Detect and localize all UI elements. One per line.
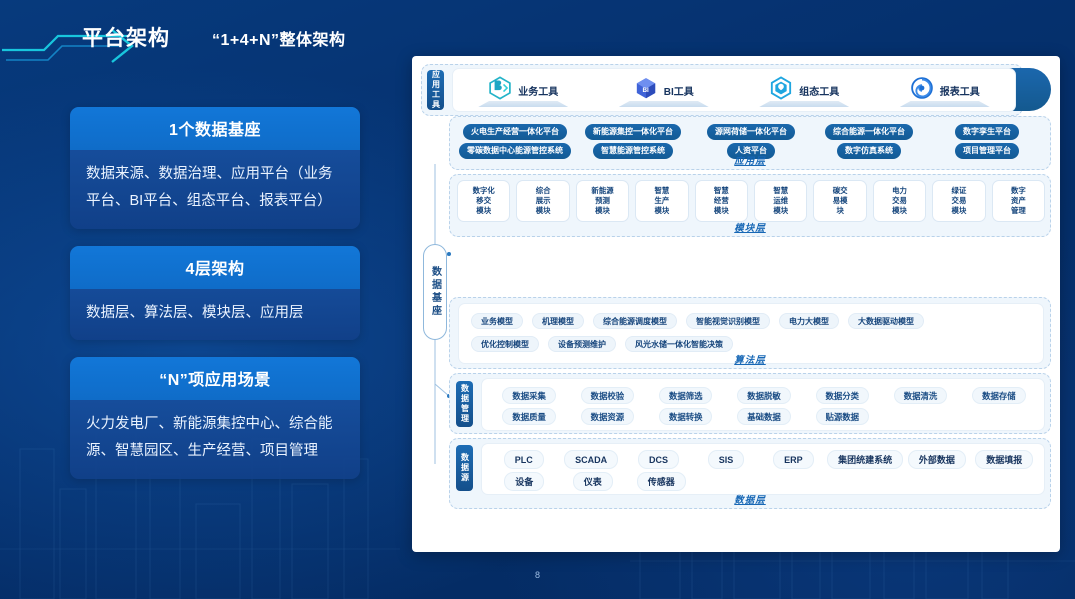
module-label-line: 模块: [892, 206, 907, 216]
module-label-line: 易模: [833, 196, 848, 206]
vertical-tag-data-management: 数据管理: [456, 381, 473, 427]
data-management-cell: [960, 408, 1038, 425]
module-box[interactable]: 智慧经营模块: [695, 180, 748, 222]
layer-tag-module: 模块层: [450, 220, 1050, 234]
tools-card: 业务工具BIBI工具组态工具报表工具: [452, 68, 1016, 112]
application-platform-pill[interactable]: 源网荷储一体化平台: [707, 124, 795, 140]
data-source-cell: DCS: [625, 450, 692, 469]
data-source-cell: SIS: [692, 450, 759, 469]
card-title: 1个数据基座: [70, 107, 360, 150]
data-management-cell: 数据筛选: [647, 387, 725, 404]
data-management-chip[interactable]: 数据清洗: [894, 387, 948, 404]
data-source-chip[interactable]: 外部数据: [908, 450, 966, 469]
summary-cards: 1个数据基座 数据来源、数据治理、应用平台（业务平台、BI平台、组态平台、报表平…: [70, 107, 360, 496]
application-platform-pill[interactable]: 数字孪生平台: [955, 124, 1019, 140]
bi-tool-icon: BI: [634, 76, 658, 105]
data-source-chip[interactable]: ERP: [773, 450, 814, 469]
data-management-card: 数据采集数据校验数据筛选数据脱敏数据分类数据清洗数据存储 数据质量数据资源数据转…: [481, 378, 1045, 431]
data-source-card: PLCSCADADCSSISERP集团统建系统外部数据数据填报 设备仪表传感器: [481, 443, 1045, 495]
page-title: 平台架构: [82, 22, 170, 52]
data-management-cell: 数据脱敏: [725, 387, 803, 404]
data-management-cell: 数据清洗: [881, 387, 959, 404]
module-box[interactable]: 智慧运维模块: [754, 180, 807, 222]
data-management-chip[interactable]: 基础数据: [737, 408, 791, 425]
data-source-cell: ERP: [760, 450, 827, 469]
data-source-cell: 传感器: [627, 472, 696, 491]
config-tool-icon: [769, 76, 793, 105]
data-source-cell: 仪表: [559, 472, 628, 491]
module-label-line: 智慧: [655, 186, 670, 196]
application-layer-group: 火电生产经营一体化平台新能源集控一体化平台源网荷储一体化平台综合能源一体化平台数…: [449, 116, 1051, 170]
data-source-cell: [970, 472, 1039, 491]
data-management-chip[interactable]: 数据校验: [581, 387, 635, 404]
report-tool-icon: [910, 76, 934, 105]
data-source-cell: [764, 472, 833, 491]
data-source-chip[interactable]: 传感器: [637, 472, 686, 491]
data-management-chip[interactable]: 贴源数据: [816, 408, 870, 425]
data-source-chip[interactable]: SIS: [708, 450, 745, 469]
slide-header: 平台架构 “1+4+N”整体架构: [0, 20, 420, 72]
tool-pedestal: [478, 101, 568, 107]
algorithm-layer-group: 业务模型机理模型综合能源调度模型智能视觉识别模型电力大模型大数据驱动模型 优化控…: [449, 297, 1051, 369]
data-management-cell: 数据采集: [490, 387, 568, 404]
data-source-chip[interactable]: PLC: [504, 450, 544, 469]
data-management-cell: 数据校验: [568, 387, 646, 404]
data-management-cell: 数据质量: [490, 408, 568, 425]
data-management-cell: 基础数据: [725, 408, 803, 425]
data-source-chip[interactable]: 设备: [504, 472, 544, 491]
application-platform-pill[interactable]: 火电生产经营一体化平台: [463, 124, 567, 140]
card-title: 4层架构: [70, 246, 360, 289]
tool-item[interactable]: 报表工具: [875, 69, 1016, 111]
data-management-chip[interactable]: 数据筛选: [659, 387, 713, 404]
data-source-cell: 外部数据: [903, 450, 970, 469]
data-management-cell: 贴源数据: [803, 408, 881, 425]
tool-label: 业务工具: [518, 83, 558, 98]
module-box[interactable]: 数字化移交模块: [457, 180, 510, 222]
data-management-cell: 数据转换: [647, 408, 725, 425]
module-label-line: 模块: [536, 206, 551, 216]
module-box[interactable]: 新能源预测模块: [576, 180, 629, 222]
card-body: 数据层、算法层、模块层、应用层: [70, 289, 360, 341]
data-source-cell: SCADA: [557, 450, 624, 469]
module-label-line: 交易: [952, 196, 967, 206]
card-body: 火力发电厂、新能源集控中心、综合能源、智慧园区、生产经营、项目管理: [70, 400, 360, 479]
module-label-line: 智慧: [714, 186, 729, 196]
data-source-chip[interactable]: 仪表: [573, 472, 613, 491]
base-tag-data-foundation: 数据基座: [423, 244, 447, 340]
algorithm-model-chip[interactable]: 大数据驱动模型: [848, 313, 924, 329]
module-label-line: 经营: [714, 196, 729, 206]
app-cell: 源网荷储一体化平台: [692, 124, 810, 140]
data-management-chip[interactable]: 数据存储: [972, 387, 1026, 404]
data-management-chip[interactable]: 数据采集: [502, 387, 556, 404]
application-platform-pill[interactable]: 综合能源一体化平台: [825, 124, 913, 140]
module-box[interactable]: 绿证交易模块: [932, 180, 985, 222]
algorithm-model-chip[interactable]: 电力大模型: [779, 313, 839, 329]
data-management-cell: 数据分类: [803, 387, 881, 404]
module-box[interactable]: 碳交易模块: [813, 180, 866, 222]
module-label-line: 综合: [536, 186, 551, 196]
data-management-chip[interactable]: 数据质量: [502, 408, 556, 425]
data-source-cell: 数据填报: [971, 450, 1038, 469]
data-source-group: 数据源 PLCSCADADCSSISERP集团统建系统外部数据数据填报 设备仪表…: [449, 438, 1051, 509]
data-management-chip[interactable]: 数据转换: [659, 408, 713, 425]
tool-pedestal: [759, 101, 849, 107]
summary-card: 4层架构 数据层、算法层、模块层、应用层: [70, 246, 360, 341]
application-platform-pill[interactable]: 新能源集控一体化平台: [585, 124, 681, 140]
algorithm-model-chip[interactable]: 设备预测维护: [548, 336, 616, 352]
data-source-chip[interactable]: 集团统建系统: [827, 450, 903, 469]
data-source-chip[interactable]: 数据填报: [975, 450, 1033, 469]
architecture-panel: 数据基座 西智数创平台（NWDIPlatform)技术架构 （着力打造一款以数据…: [412, 56, 1060, 552]
layer-tag-data: 数据层: [450, 492, 1050, 506]
summary-card: “N”项应用场景 火力发电厂、新能源集控中心、综合能源、智慧园区、生产经营、项目…: [70, 357, 360, 479]
module-box[interactable]: 电力交易模块: [873, 180, 926, 222]
module-label-line: 模块: [952, 206, 967, 216]
algorithm-model-chip[interactable]: 业务模型: [471, 313, 523, 329]
algorithm-model-chip[interactable]: 智能视觉识别模型: [686, 313, 770, 329]
data-management-chip[interactable]: 数据脱敏: [737, 387, 791, 404]
module-label-line: 模块: [655, 206, 670, 216]
card-body: 数据来源、数据治理、应用平台（业务平台、BI平台、组态平台、报表平台）: [70, 150, 360, 229]
data-source-cell: [696, 472, 765, 491]
module-box[interactable]: 智慧生产模块: [635, 180, 688, 222]
tool-item[interactable]: 组态工具: [734, 69, 875, 111]
svg-text:BI: BI: [642, 87, 649, 94]
data-management-cell: 数据存储: [960, 387, 1038, 404]
data-management-chip[interactable]: 数据分类: [816, 387, 870, 404]
module-label-line: 预测: [595, 196, 610, 206]
business-tool-icon: [488, 76, 512, 105]
data-source-chip[interactable]: SCADA: [564, 450, 618, 469]
module-box[interactable]: 综合展示模块: [516, 180, 569, 222]
module-label-line: 模块: [714, 206, 729, 216]
app-cell: 新能源集控一体化平台: [574, 124, 692, 140]
algorithm-model-chip[interactable]: 优化控制模型: [471, 336, 539, 352]
algorithm-model-chip[interactable]: 机理模型: [532, 313, 584, 329]
module-label-line: 移交: [476, 196, 491, 206]
tool-pedestal: [619, 101, 709, 107]
module-label-line: 交易: [892, 196, 907, 206]
module-label-line: 智慧: [773, 186, 788, 196]
page-subtitle: “1+4+N”整体架构: [212, 26, 346, 50]
data-management-chip[interactable]: 数据资源: [581, 408, 635, 425]
module-label-line: 模块: [595, 206, 610, 216]
app-cell: 综合能源一体化平台: [810, 124, 928, 140]
tool-label: 组态工具: [799, 83, 839, 98]
module-label-line: 模块: [476, 206, 491, 216]
app-cell: 火电生产经营一体化平台: [456, 124, 574, 140]
module-label-line: 块: [836, 206, 843, 216]
layer-tag-algorithm: 算法层: [450, 352, 1050, 366]
layer-tag-application: 应用层: [450, 153, 1050, 167]
module-label-line: 数字化: [473, 186, 495, 196]
page-number: 8: [0, 570, 1075, 580]
data-source-cell: [833, 472, 902, 491]
module-label-line: 模块: [773, 206, 788, 216]
module-label-line: 新能源: [591, 186, 613, 196]
data-management-cell: [881, 408, 959, 425]
tool-label: 报表工具: [940, 83, 980, 98]
module-label-line: 电力: [892, 186, 907, 196]
tool-item[interactable]: 业务工具: [453, 69, 594, 111]
data-management-cell: 数据资源: [568, 408, 646, 425]
tool-label: BI工具: [664, 83, 694, 98]
algorithm-model-chip[interactable]: 风光水储一体化智能决策: [625, 336, 733, 352]
vertical-tag-data-source: 数据源: [456, 445, 473, 491]
app-cell: 数字孪生平台: [928, 124, 1046, 140]
module-label-line: 管理: [1011, 206, 1026, 216]
vertical-tag-application-tools: 应用工具: [427, 70, 444, 110]
module-label-line: 数字: [1011, 186, 1026, 196]
tool-item[interactable]: BIBI工具: [594, 69, 735, 111]
data-source-cell: 集团统建系统: [827, 450, 903, 469]
module-label-line: 生产: [655, 196, 670, 206]
data-source-chip[interactable]: DCS: [638, 450, 679, 469]
data-source-cell: 设备: [490, 472, 559, 491]
data-source-cell: PLC: [490, 450, 557, 469]
module-box[interactable]: 数字资产管理: [992, 180, 1045, 222]
module-label-line: 资产: [1011, 196, 1026, 206]
module-label-line: 绿证: [952, 186, 967, 196]
module-layer-group: 数字化移交模块综合展示模块新能源预测模块智慧生产模块智慧经营模块智慧运维模块碳交…: [449, 174, 1051, 237]
data-management-group: 数据管理 数据采集数据校验数据筛选数据脱敏数据分类数据清洗数据存储 数据质量数据…: [449, 373, 1051, 434]
tool-pedestal: [900, 101, 990, 107]
module-label-line: 碳交: [833, 186, 848, 196]
summary-card: 1个数据基座 数据来源、数据治理、应用平台（业务平台、BI平台、组态平台、报表平…: [70, 107, 360, 229]
data-source-cell: [901, 472, 970, 491]
application-tools-group: 应用工具 业务工具BIBI工具组态工具报表工具: [421, 64, 1023, 116]
module-label-line: 展示: [536, 196, 551, 206]
module-label-line: 运维: [773, 196, 788, 206]
algorithm-model-chip[interactable]: 综合能源调度模型: [593, 313, 677, 329]
card-title: “N”项应用场景: [70, 357, 360, 400]
